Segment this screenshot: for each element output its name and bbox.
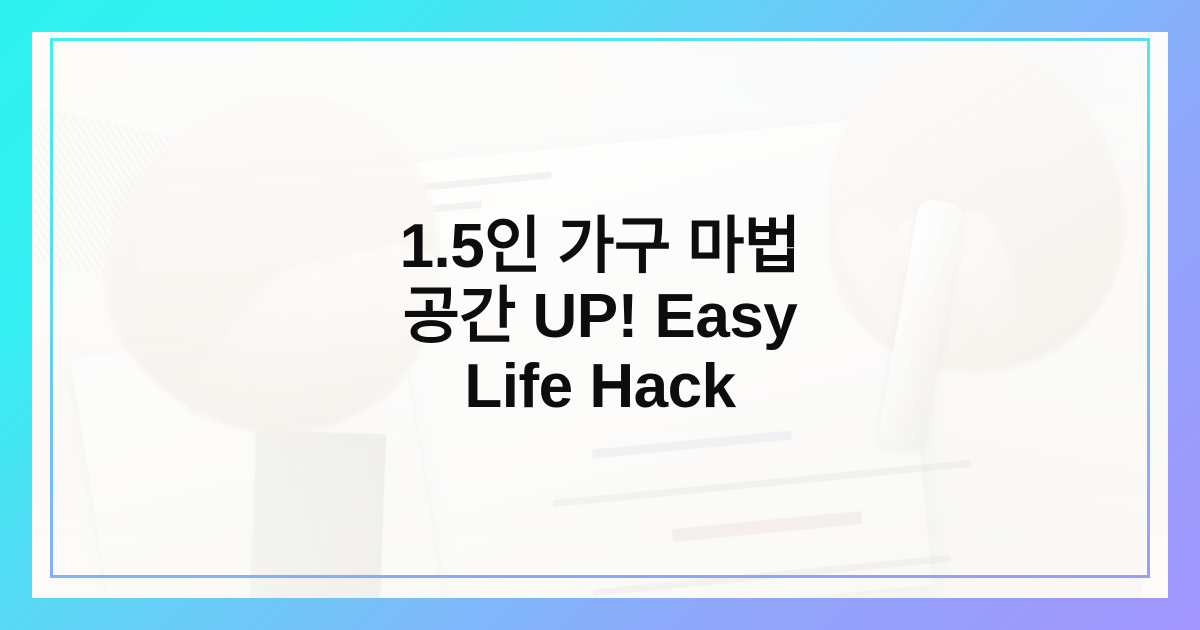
title-line-2: 공간 UP! Easy bbox=[90, 282, 1110, 352]
thumbnail-canvas: 1.5인 가구 마법 공간 UP! Easy Life Hack bbox=[0, 0, 1200, 630]
title-line-1: 1.5인 가구 마법 bbox=[90, 212, 1110, 282]
title-line-3: Life Hack bbox=[90, 352, 1110, 422]
title-block: 1.5인 가구 마법 공간 UP! Easy Life Hack bbox=[0, 212, 1200, 422]
